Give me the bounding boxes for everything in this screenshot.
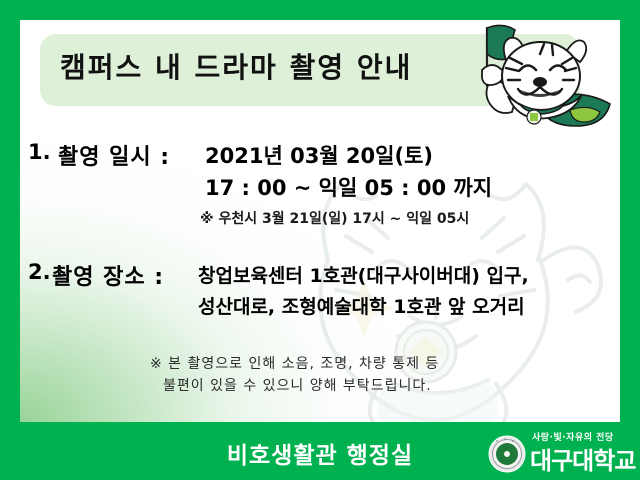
university-seal-icon: DAE: [488, 435, 526, 473]
svg-text:A: A: [504, 437, 506, 441]
item-1-value-line-1: 2021년 03월 20일(토): [205, 140, 433, 170]
poster-root: 캠퍼스 내 드라마 촬영 안내: [0, 0, 640, 480]
tiger-mascot-illustration: [440, 20, 620, 139]
item-2-value-line-2: 성산대로, 조형예술대학 1호관 앞 오거리: [198, 292, 525, 319]
university-logo: DAE 사랑·빛·자유의 전당 대구대학교: [486, 426, 632, 476]
page-title: 캠퍼스 내 드라마 촬영 안내: [60, 46, 412, 86]
item-1-number: 1.: [28, 140, 51, 164]
item-2-value-line-1: 창업보육센터 1호관(대구사이버대) 입구,: [198, 261, 529, 288]
item-1-label: 촬영 일시 :: [58, 139, 170, 171]
footer-bar: 비호생활관 행정실 DAE 사랑·빛·자유의 전당 대구대학교: [0, 422, 640, 480]
item-2-number: 2.: [28, 260, 51, 284]
footnote-line-1: ※ 본 촬영으로 인해 소음, 조명, 차량 통제 등: [150, 353, 439, 373]
item-1-value-line-2: 17 : 00 ~ 익일 05 : 00 까지: [205, 172, 492, 202]
item-2-label: 촬영 장소 :: [52, 259, 164, 291]
content-panel: 캠퍼스 내 드라마 촬영 안내: [20, 20, 620, 422]
university-name: 대구대학교: [530, 441, 635, 476]
svg-text:E: E: [512, 439, 514, 443]
footnote-line-2: 불편이 있을 수 있으니 양해 부탁드립니다.: [163, 375, 432, 395]
item-1-rain-note: ※ 우천시 3월 21일(일) 17시 ~ 익일 05시: [200, 208, 469, 228]
